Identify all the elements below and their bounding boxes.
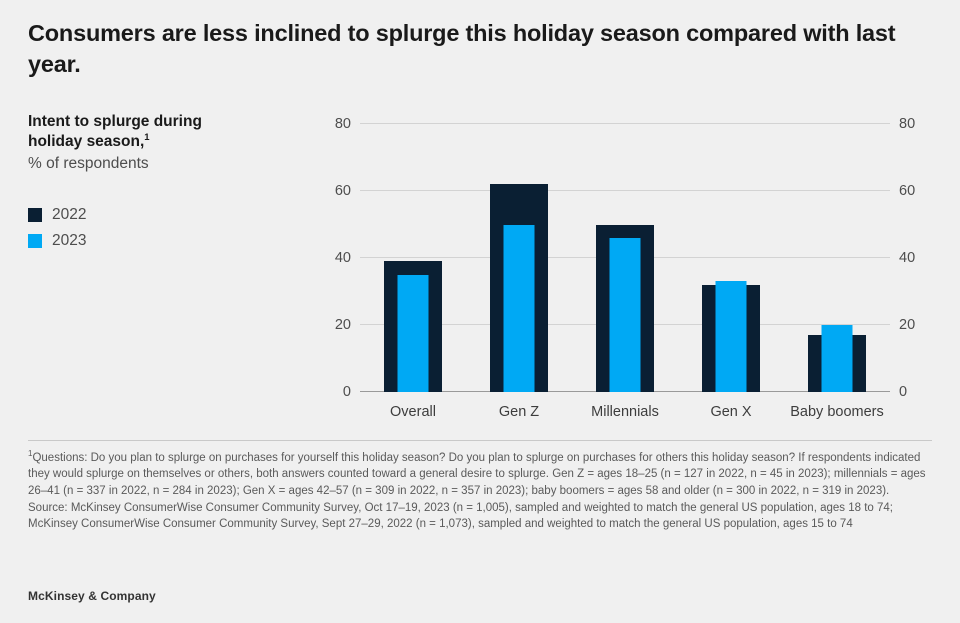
- chart-unit-label: % of respondents: [28, 154, 298, 174]
- y-tick-right-0: 0: [899, 385, 907, 400]
- footnote-marker: 1: [144, 132, 149, 143]
- bar-2023[interactable]: [398, 275, 429, 392]
- legend: 2022 2023: [28, 202, 298, 254]
- chart-subtitle-line1: Intent to splurge during: [28, 113, 202, 130]
- y-tick-left-40: 40: [335, 251, 351, 266]
- y-tick-left-60: 60: [335, 184, 351, 199]
- legend-swatch-2023: [28, 234, 42, 248]
- bar-2023[interactable]: [504, 225, 535, 393]
- legend-item-2023[interactable]: 2023: [28, 228, 298, 254]
- chart-subtitle-line2: holiday season,: [28, 133, 144, 150]
- bar-2023[interactable]: [716, 281, 747, 392]
- bar-group[interactable]: Baby boomers: [784, 124, 890, 392]
- bar-group[interactable]: Gen X: [678, 124, 784, 392]
- bar-group[interactable]: Millennials: [572, 124, 678, 392]
- footnotes: 1Questions: Do you plan to splurge on pu…: [28, 450, 936, 533]
- y-tick-right-20: 20: [899, 318, 915, 333]
- y-tick-left-80: 80: [335, 117, 351, 132]
- footnote-question-text: Questions: Do you plan to splurge on pur…: [28, 452, 926, 497]
- bar-group[interactable]: Gen Z: [466, 124, 572, 392]
- chart-subtitle: Intent to splurge during holiday season,…: [28, 112, 298, 152]
- bar-group[interactable]: Overall: [360, 124, 466, 392]
- footnote-source: Source: McKinsey ConsumerWise Consumer C…: [28, 500, 936, 533]
- chart-legend-panel: Intent to splurge during holiday season,…: [28, 112, 298, 254]
- page-title: Consumers are less inclined to splurge t…: [28, 18, 928, 80]
- brand-wordmark: McKinsey & Company: [28, 589, 156, 603]
- x-axis-label: Overall: [390, 404, 436, 420]
- y-tick-right-60: 60: [899, 184, 915, 199]
- x-axis-label: Gen Z: [499, 404, 539, 420]
- footnote-divider: [28, 440, 932, 441]
- y-tick-right-80: 80: [899, 117, 915, 132]
- plot-area: 002020404060608080 OverallGen ZMillennia…: [360, 124, 890, 392]
- y-tick-left-20: 20: [335, 318, 351, 333]
- x-axis-label: Gen X: [710, 404, 751, 420]
- bar-chart: 002020404060608080 OverallGen ZMillennia…: [325, 112, 925, 412]
- y-tick-right-40: 40: [899, 251, 915, 266]
- x-axis-label: Millennials: [591, 404, 659, 420]
- legend-label-2022: 2022: [52, 206, 86, 224]
- legend-swatch-2022: [28, 208, 42, 222]
- legend-item-2022[interactable]: 2022: [28, 202, 298, 228]
- footnote-question: 1Questions: Do you plan to splurge on pu…: [28, 450, 936, 499]
- legend-label-2023: 2023: [52, 232, 86, 250]
- bar-2023[interactable]: [610, 238, 641, 392]
- y-tick-left-0: 0: [343, 385, 351, 400]
- bar-2023[interactable]: [822, 325, 853, 392]
- x-axis-label: Baby boomers: [790, 404, 884, 420]
